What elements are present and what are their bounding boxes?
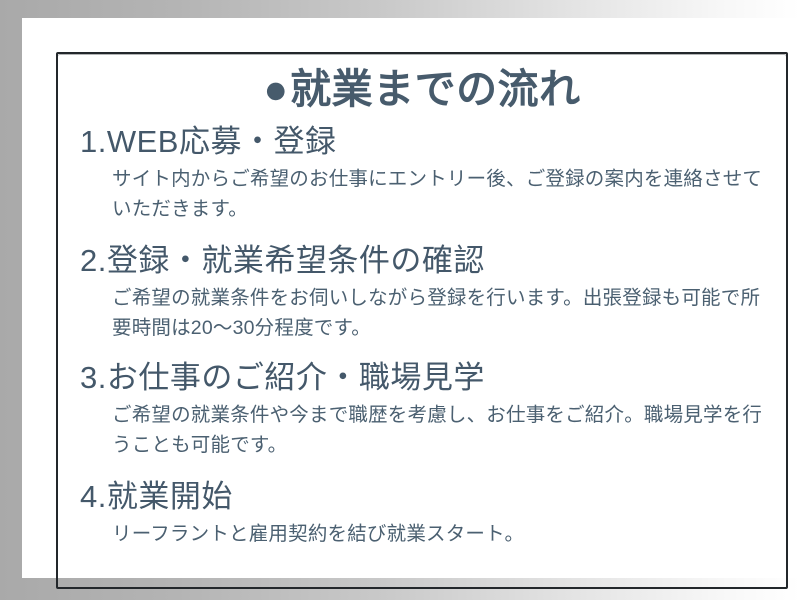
page-title: ●就業までの流れ (70, 64, 774, 115)
step-heading: 1.WEB応募・登録 (70, 121, 774, 164)
bullet-icon: ● (263, 66, 290, 112)
step-item: 2.登録・就業希望条件の確認 ご希望の就業条件をお伺いしながら登録を行います。出… (70, 240, 774, 343)
step-item: 1.WEB応募・登録 サイト内からご希望のお仕事にエントリー後、ご登録の案内を連… (70, 121, 774, 224)
step-heading: 2.登録・就業希望条件の確認 (70, 240, 774, 283)
flow-content: ●就業までの流れ 1.WEB応募・登録 サイト内からご希望のお仕事にエントリー後… (56, 52, 788, 589)
step-body: ご希望の就業条件をお伺いしながら登録を行います。出張登録も可能で所要時間は20〜… (70, 284, 774, 343)
step-body: ご希望の就業条件や今まで職歴を考慮し、お仕事をご紹介。職場見学を行うことも可能で… (70, 401, 774, 460)
page-card: ●就業までの流れ 1.WEB応募・登録 サイト内からご希望のお仕事にエントリー後… (22, 18, 800, 578)
step-item: 4.就業開始 リーフラントと雇用契約を結び就業スタート。 (70, 476, 774, 549)
step-heading: 4.就業開始 (70, 476, 774, 519)
page-title-text: 就業までの流れ (290, 66, 581, 112)
step-item: 3.お仕事のご紹介・職場見学 ご希望の就業条件や今まで職歴を考慮し、お仕事をご紹… (70, 357, 774, 460)
step-heading: 3.お仕事のご紹介・職場見学 (70, 357, 774, 400)
step-body: リーフラントと雇用契約を結び就業スタート。 (70, 520, 774, 550)
step-body: サイト内からご希望のお仕事にエントリー後、ご登録の案内を連絡させていただきます。 (70, 165, 774, 224)
